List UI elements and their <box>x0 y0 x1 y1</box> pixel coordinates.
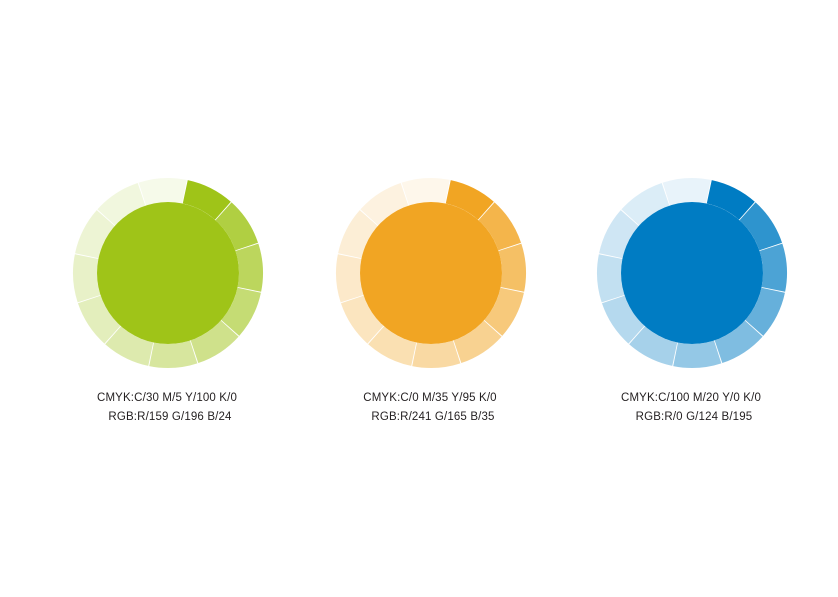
tint-segment <box>673 341 721 368</box>
cmyk-value-orange: CMYK:C/0 M/35 Y/95 K/0 <box>314 389 546 408</box>
color-swatch-green[interactable] <box>72 177 264 369</box>
tint-segment <box>402 178 450 205</box>
base-color-disk-orange <box>360 202 502 344</box>
color-wheel-blue <box>596 177 788 369</box>
tint-segment <box>73 254 100 302</box>
palette-canvas: CMYK:C/30 M/5 Y/100 K/0RGB:R/159 G/196 B… <box>0 0 838 597</box>
color-swatch-blue[interactable] <box>596 177 788 369</box>
tint-segment <box>412 341 460 368</box>
color-caption-blue: CMYK:C/100 M/20 Y/0 K/0RGB:R/0 G/124 B/1… <box>577 389 807 427</box>
color-wheel-orange <box>335 177 527 369</box>
color-wheel-green <box>72 177 264 369</box>
color-caption-green: CMYK:C/30 M/5 Y/100 K/0RGB:R/159 G/196 B… <box>53 389 283 427</box>
tint-segment <box>139 178 187 205</box>
color-caption-orange: CMYK:C/0 M/35 Y/95 K/0RGB:R/241 G/165 B/… <box>316 389 546 427</box>
base-color-disk-blue <box>621 202 763 344</box>
rgb-value-green: RGB:R/159 G/196 B/24 <box>57 408 283 427</box>
rgb-value-blue: RGB:R/0 G/124 B/195 <box>581 408 807 427</box>
tint-segment <box>760 244 787 292</box>
base-color-disk-green <box>97 202 239 344</box>
tint-segment <box>663 178 711 205</box>
color-swatch-group: CMYK:C/30 M/5 Y/100 K/0RGB:R/159 G/196 B… <box>0 0 838 597</box>
rgb-value-orange: RGB:R/241 G/165 B/35 <box>320 408 546 427</box>
tint-segment <box>236 244 263 292</box>
cmyk-value-blue: CMYK:C/100 M/20 Y/0 K/0 <box>575 389 807 408</box>
cmyk-value-green: CMYK:C/30 M/5 Y/100 K/0 <box>51 389 283 408</box>
tint-segment <box>149 341 197 368</box>
tint-segment <box>499 244 526 292</box>
color-swatch-orange[interactable] <box>335 177 527 369</box>
tint-segment <box>597 254 624 302</box>
tint-segment <box>336 254 363 302</box>
